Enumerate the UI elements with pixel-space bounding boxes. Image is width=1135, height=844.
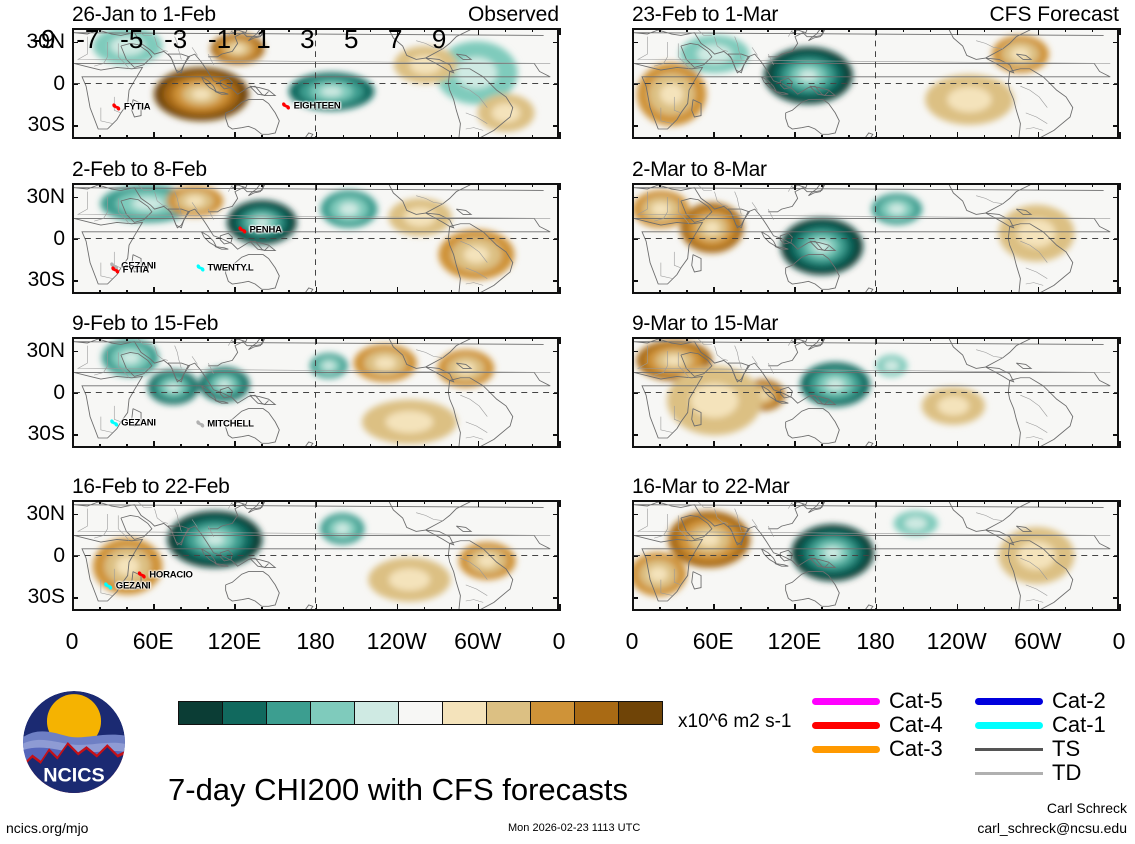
axis-tick-mark [632, 351, 638, 353]
axis-tick-mark [903, 500, 905, 504]
y-axis-label: 30N [26, 502, 65, 526]
storm-marker[interactable]: EIGHTEEN [280, 99, 341, 112]
storm-marker[interactable]: MITCHELL [193, 418, 253, 431]
axis-tick-mark [505, 290, 507, 294]
storm-name-label: MITCHELL [207, 419, 253, 430]
axis-tick-mark [1038, 500, 1040, 507]
colorbar-tick-label: 3 [300, 24, 314, 55]
storm-name-label: TWENTY.L [208, 262, 254, 273]
axis-tick-mark [767, 290, 769, 294]
axis-tick-mark [126, 607, 128, 611]
axis-tick-mark [451, 444, 453, 448]
axis-tick-mark [72, 280, 78, 282]
axis-tick-mark [1113, 42, 1119, 44]
axis-tick-mark [343, 500, 345, 504]
author-name: Carl Schreck [977, 798, 1127, 818]
axis-tick-mark [632, 239, 638, 241]
axis-tick-mark [370, 183, 372, 187]
axis-tick-mark [553, 597, 559, 599]
legend-swatch [975, 698, 1043, 705]
legend-item-cat-3: Cat-3 [812, 737, 943, 761]
axis-tick-mark [532, 444, 534, 448]
axis-tick-mark [686, 337, 688, 341]
axis-tick-mark [180, 337, 182, 341]
axis-tick-mark [126, 183, 128, 187]
map-panel-5: 23-Feb to 1-MarCFS Forecast [632, 28, 1119, 139]
axis-tick-mark [1113, 84, 1119, 86]
axis-tick-mark [821, 135, 823, 139]
axis-tick-mark [1113, 239, 1119, 241]
axis-tick-mark [767, 135, 769, 139]
axis-tick-mark [1113, 351, 1119, 353]
axis-tick-mark [740, 500, 742, 504]
legend-item-cat-4: Cat-4 [812, 713, 943, 737]
axis-tick-mark [316, 28, 318, 35]
x-axis-tick-label: 180 [296, 628, 334, 655]
y-axis-label: 0 [53, 544, 65, 568]
axis-tick-mark [930, 444, 932, 448]
axis-tick-mark [1065, 500, 1067, 504]
panel-title: 23-Feb to 1-Mar [632, 3, 778, 27]
axis-tick-mark [451, 28, 453, 32]
axis-tick-mark [316, 604, 318, 611]
axis-tick-mark [153, 132, 155, 139]
y-axis-label: 0 [53, 381, 65, 405]
axis-tick-mark [397, 500, 399, 507]
axis-tick-mark [1092, 337, 1094, 341]
axis-tick-mark [207, 607, 209, 611]
axis-tick-mark [424, 607, 426, 611]
map-panel-2: 2-Feb to 8-Feb30N030SPENHAGEZANIFYTIATWE… [72, 183, 559, 294]
axis-tick-mark [740, 337, 742, 341]
storm-marker[interactable]: FYTIA [109, 264, 149, 277]
storm-marker[interactable]: PENHA [236, 224, 282, 237]
axis-tick-mark [848, 135, 850, 139]
axis-tick-mark [370, 290, 372, 294]
axis-tick-mark [553, 514, 559, 516]
colorbar-tick-label: -5 [120, 24, 143, 55]
axis-tick-mark [234, 604, 236, 611]
axis-tick-mark [686, 607, 688, 611]
axis-tick-mark [288, 337, 290, 341]
storm-marker[interactable]: GEZANI [107, 417, 156, 430]
axis-tick-mark [553, 393, 559, 395]
axis-tick-mark [632, 337, 634, 344]
cyclone-icon [236, 224, 249, 237]
x-axis-tick-label: 120W [367, 628, 427, 655]
axis-tick-mark [532, 337, 534, 341]
axis-tick-mark [424, 500, 426, 504]
axis-tick-mark [478, 500, 480, 507]
axis-tick-mark [553, 197, 559, 199]
colorbar-tick-label: -1 [208, 24, 231, 55]
axis-tick-mark [126, 290, 128, 294]
x-axis-tick-label: 60W [1014, 628, 1061, 655]
map-canvas [72, 183, 559, 294]
axis-tick-mark [632, 132, 634, 139]
storm-name-label: GEZANI [121, 418, 156, 429]
axis-tick-mark [1113, 197, 1119, 199]
axis-tick-mark [821, 337, 823, 341]
axis-tick-mark [1092, 444, 1094, 448]
axis-tick-mark [424, 135, 426, 139]
axis-tick-mark [370, 607, 372, 611]
colorbar-tick-label: -9 [32, 24, 55, 55]
map-canvas [632, 337, 1119, 448]
storm-name-label: GEZANI [116, 581, 151, 592]
axis-tick-mark [478, 604, 480, 611]
axis-tick-mark [930, 28, 932, 32]
colorbar-units-label: x10^6 m2 s-1 [678, 711, 791, 733]
axis-tick-mark [397, 441, 399, 448]
axis-tick-mark [686, 183, 688, 187]
axis-tick-mark [848, 337, 850, 341]
axis-tick-mark [794, 183, 796, 190]
axis-tick-mark [686, 135, 688, 139]
axis-tick-mark [659, 337, 661, 341]
axis-tick-mark [424, 290, 426, 294]
axis-tick-mark [316, 441, 318, 448]
legend-item-td: TD [975, 761, 1106, 785]
axis-tick-mark [903, 337, 905, 341]
axis-tick-mark [99, 444, 101, 448]
axis-tick-mark [424, 28, 426, 32]
axis-tick-mark [957, 337, 959, 344]
axis-tick-mark [848, 444, 850, 448]
y-axis-label: 0 [53, 227, 65, 251]
axis-tick-mark [505, 607, 507, 611]
axis-tick-mark [903, 290, 905, 294]
axis-tick-mark [99, 500, 101, 504]
axis-tick-mark [632, 441, 634, 448]
axis-tick-mark [559, 28, 561, 35]
axis-tick-mark [632, 514, 638, 516]
axis-tick-mark [478, 287, 480, 294]
axis-tick-mark [234, 132, 236, 139]
axis-tick-mark [288, 290, 290, 294]
colorbar-tick-label: -3 [164, 24, 187, 55]
axis-tick-mark [1065, 290, 1067, 294]
axis-tick-mark [261, 183, 263, 187]
axis-tick-mark [72, 393, 78, 395]
axis-tick-mark [659, 444, 661, 448]
axis-tick-mark [740, 290, 742, 294]
axis-tick-mark [72, 287, 74, 294]
axis-tick-mark [984, 337, 986, 341]
axis-tick-mark [1113, 125, 1119, 127]
panel-title: 9-Mar to 15-Mar [632, 312, 778, 336]
axis-tick-mark [632, 125, 638, 127]
axis-tick-mark [478, 132, 480, 139]
axis-tick-mark [1011, 500, 1013, 504]
legend-label: Cat-3 [889, 736, 943, 762]
legend-swatch [975, 772, 1043, 775]
axis-tick-mark [876, 441, 878, 448]
axis-tick-mark [821, 28, 823, 32]
axis-tick-mark [1113, 514, 1119, 516]
axis-tick-mark [984, 500, 986, 504]
axis-tick-mark [153, 287, 155, 294]
axis-tick-mark [686, 28, 688, 32]
axis-tick-mark [343, 183, 345, 187]
axis-tick-mark [1113, 556, 1119, 558]
colorbar-segment [266, 702, 310, 724]
axis-tick-mark [559, 500, 561, 507]
axis-tick-mark [686, 500, 688, 504]
legend-label: Cat-5 [889, 688, 943, 714]
axis-tick-mark [632, 84, 638, 86]
axis-tick-mark [821, 444, 823, 448]
site-url[interactable]: ncics.org/mjo [6, 820, 88, 836]
axis-tick-mark [261, 135, 263, 139]
legend-swatch [812, 722, 880, 729]
axis-tick-mark [261, 290, 263, 294]
axis-tick-mark [740, 607, 742, 611]
axis-tick-mark [821, 607, 823, 611]
axis-tick-mark [984, 183, 986, 187]
colorbar-segment [618, 702, 662, 724]
axis-tick-mark [1038, 337, 1040, 344]
axis-tick-mark [234, 500, 236, 507]
axis-tick-mark [632, 434, 638, 436]
axis-tick-mark [478, 28, 480, 35]
axis-tick-mark [99, 607, 101, 611]
legend-label: Cat-1 [1052, 712, 1106, 738]
axis-tick-mark [532, 290, 534, 294]
axis-tick-mark [984, 135, 986, 139]
storm-name-label: FYTIA [124, 102, 150, 113]
axis-tick-mark [1011, 337, 1013, 341]
axis-tick-mark [99, 290, 101, 294]
axis-tick-mark [343, 290, 345, 294]
axis-tick-mark [343, 444, 345, 448]
axis-tick-mark [180, 290, 182, 294]
axis-tick-mark [930, 135, 932, 139]
cyclone-icon [110, 101, 123, 114]
axis-tick-mark [984, 444, 986, 448]
axis-tick-mark [930, 183, 932, 187]
axis-tick-mark [876, 132, 878, 139]
axis-tick-mark [532, 183, 534, 187]
axis-tick-mark [343, 135, 345, 139]
axis-tick-mark [559, 604, 561, 611]
axis-tick-mark [451, 500, 453, 504]
legend-label: TS [1052, 736, 1080, 762]
axis-tick-mark [821, 183, 823, 187]
axis-tick-mark [72, 132, 74, 139]
axis-tick-mark [261, 500, 263, 504]
axis-tick-mark [876, 337, 878, 344]
axis-tick-mark [632, 556, 638, 558]
colorbar-segment [574, 702, 618, 724]
axis-tick-mark [876, 183, 878, 190]
axis-tick-mark [957, 604, 959, 611]
axis-tick-mark [659, 183, 661, 187]
axis-tick-mark [99, 183, 101, 187]
axis-tick-mark [553, 239, 559, 241]
axis-tick-mark [1065, 183, 1067, 187]
cyclone-legend-left: Cat-5Cat-4Cat-3 [812, 689, 943, 761]
axis-tick-mark [930, 337, 932, 341]
axis-tick-mark [451, 290, 453, 294]
axis-tick-mark [632, 42, 638, 44]
axis-tick-mark [72, 197, 78, 199]
x-axis-tick-label: 120E [767, 628, 821, 655]
storm-marker[interactable]: FYTIA [110, 101, 150, 114]
x-axis-tick-label: 60E [693, 628, 734, 655]
axis-tick-mark [1065, 28, 1067, 32]
axis-tick-mark [1038, 28, 1040, 35]
axis-tick-mark [370, 135, 372, 139]
legend-swatch [975, 722, 1043, 729]
x-axis-tick-label: 120E [207, 628, 261, 655]
axis-tick-mark [848, 28, 850, 32]
axis-tick-mark [370, 337, 372, 341]
cyclone-legend-right: Cat-2Cat-1TSTD [975, 689, 1106, 785]
axis-tick-mark [532, 28, 534, 32]
map-panel-7: 9-Mar to 15-Mar [632, 337, 1119, 448]
colorbar-segment [354, 702, 398, 724]
axis-tick-mark [1092, 183, 1094, 187]
colorbar-segment [486, 702, 530, 724]
axis-tick-mark [234, 183, 236, 190]
axis-tick-mark [99, 337, 101, 341]
storm-name-label: EIGHTEEN [294, 100, 341, 111]
axis-tick-mark [713, 337, 715, 344]
axis-tick-mark [261, 607, 263, 611]
cyclone-icon [194, 261, 207, 274]
axis-tick-mark [207, 444, 209, 448]
x-axis-tick-label: 60E [133, 628, 174, 655]
storm-marker[interactable]: GEZANI [102, 580, 151, 593]
panel-title: 16-Mar to 22-Mar [632, 475, 789, 499]
panel-title: 2-Feb to 8-Feb [72, 158, 207, 182]
axis-tick-mark [1119, 441, 1121, 448]
colorbar-segment [398, 702, 442, 724]
cyclone-icon [107, 417, 120, 430]
axis-tick-mark [1038, 183, 1040, 190]
storm-marker[interactable]: TWENTY.L [194, 261, 254, 274]
axis-tick-mark [559, 287, 561, 294]
cyclone-icon [109, 264, 122, 277]
axis-tick-mark [1113, 280, 1119, 282]
axis-tick-mark [1119, 287, 1121, 294]
axis-tick-mark [72, 514, 78, 516]
axis-tick-mark [424, 337, 426, 341]
axis-tick-mark [848, 500, 850, 504]
colorbar-ticks: -9-7-5-3-113579 [0, 0, 483, 1]
colorbar-segment [442, 702, 486, 724]
axis-tick-mark [288, 28, 290, 32]
axis-tick-mark [957, 28, 959, 35]
axis-tick-mark [1065, 337, 1067, 341]
axis-tick-mark [1038, 604, 1040, 611]
map-canvas [632, 28, 1119, 139]
axis-tick-mark [553, 556, 559, 558]
axis-tick-mark [72, 337, 74, 344]
axis-tick-mark [153, 500, 155, 507]
axis-tick-mark [126, 444, 128, 448]
axis-tick-mark [767, 444, 769, 448]
x-axis-left: 060E120E180120W60W0 [72, 628, 559, 658]
axis-tick-mark [207, 183, 209, 187]
axis-tick-mark [632, 604, 634, 611]
axis-tick-mark [559, 132, 561, 139]
axis-tick-mark [370, 28, 372, 32]
author-email[interactable]: carl_schreck@ncsu.edu [977, 818, 1127, 838]
axis-tick-mark [505, 500, 507, 504]
map-canvas [72, 28, 559, 139]
axis-tick-mark [532, 607, 534, 611]
y-axis-label: 30S [28, 585, 65, 609]
axis-tick-mark [72, 500, 74, 507]
legend-item-ts: TS [975, 737, 1106, 761]
timestamp: Mon 2026-02-23 1113 UTC [508, 822, 640, 834]
axis-tick-mark [553, 42, 559, 44]
axis-tick-mark [930, 290, 932, 294]
axis-tick-mark [794, 28, 796, 35]
axis-tick-mark [72, 434, 78, 436]
x-axis-tick-label: 60W [454, 628, 501, 655]
axis-tick-mark [794, 287, 796, 294]
axis-tick-mark [1119, 183, 1121, 190]
colorbar-tick-label: 1 [256, 24, 270, 55]
axis-tick-mark [1119, 604, 1121, 611]
axis-tick-mark [1092, 607, 1094, 611]
map-canvas [72, 337, 559, 448]
axis-tick-mark [632, 183, 634, 190]
axis-tick-mark [316, 132, 318, 139]
axis-tick-mark [234, 337, 236, 344]
axis-tick-mark [505, 444, 507, 448]
axis-tick-mark [848, 290, 850, 294]
y-axis-label: 0 [53, 72, 65, 96]
main-title: 7-day CHI200 with CFS forecasts [168, 772, 628, 808]
axis-tick-mark [288, 135, 290, 139]
axis-tick-mark [234, 28, 236, 35]
axis-tick-mark [153, 441, 155, 448]
axis-tick-mark [397, 604, 399, 611]
axis-tick-mark [984, 290, 986, 294]
axis-tick-mark [180, 500, 182, 504]
legend-item-cat-2: Cat-2 [975, 689, 1106, 713]
axis-tick-mark [1113, 434, 1119, 436]
cyclone-icon [193, 418, 206, 431]
axis-tick-mark [903, 183, 905, 187]
axis-tick-mark [370, 500, 372, 504]
axis-tick-mark [180, 183, 182, 187]
axis-tick-mark [686, 444, 688, 448]
axis-tick-mark [1038, 287, 1040, 294]
axis-tick-mark [1011, 183, 1013, 187]
axis-tick-mark [876, 604, 878, 611]
axis-tick-mark [234, 441, 236, 448]
axis-tick-mark [207, 337, 209, 341]
axis-tick-mark [903, 444, 905, 448]
colorbar-segment [310, 702, 354, 724]
axis-tick-mark [659, 500, 661, 504]
x-axis-right: 060E120E180120W60W0 [632, 628, 1119, 658]
axis-tick-mark [1011, 135, 1013, 139]
axis-tick-mark [713, 604, 715, 611]
axis-tick-mark [957, 132, 959, 139]
axis-tick-mark [794, 500, 796, 507]
axis-tick-mark [903, 607, 905, 611]
axis-tick-mark [532, 135, 534, 139]
colorbar-tick-label: 7 [388, 24, 402, 55]
axis-tick-mark [876, 500, 878, 507]
legend-label: Cat-2 [1052, 688, 1106, 714]
